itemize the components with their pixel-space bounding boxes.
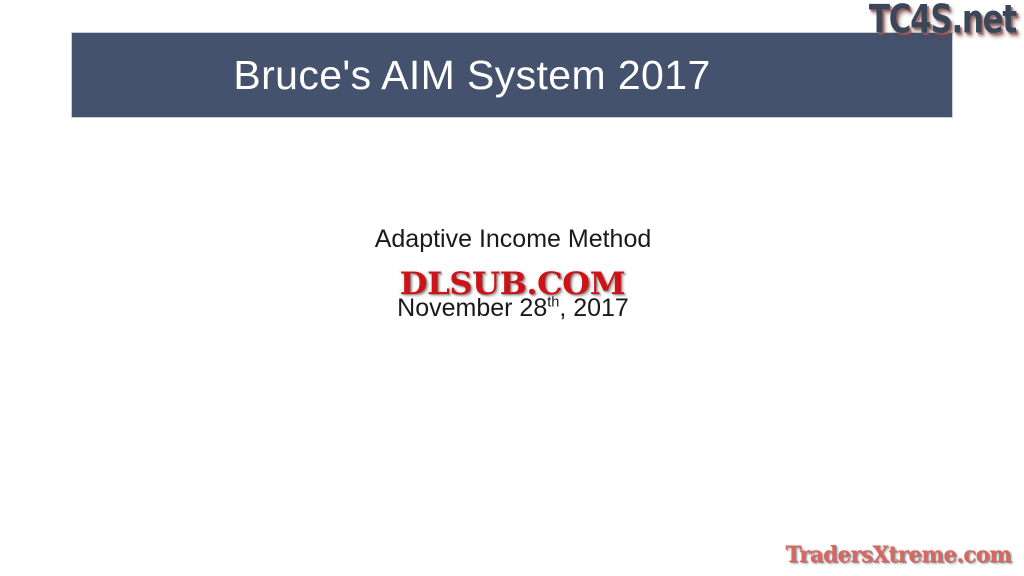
presentation-slide: Bruce's AIM System 2017 Adaptive Income … — [0, 0, 1024, 576]
date-prefix: November 28 — [397, 294, 547, 322]
slide-title: Bruce's AIM System 2017 — [233, 55, 710, 96]
tradersxtreme-watermark: TradersXtreme.com — [782, 542, 1015, 568]
title-banner: Bruce's AIM System 2017 — [71, 32, 953, 118]
date-ordinal-suffix: th — [547, 295, 559, 311]
slide-body: Adaptive Income Method November 28th, 20… — [0, 222, 1024, 326]
date-suffix: , 2017 — [559, 294, 629, 322]
body-spacer-line — [1, 257, 1024, 292]
subtitle-text: Adaptive Income Method — [1, 222, 1024, 257]
date-text: November 28th, 2017 — [1, 291, 1024, 326]
tradersxtreme-watermark-text: TradersXtreme.com — [786, 542, 1012, 568]
